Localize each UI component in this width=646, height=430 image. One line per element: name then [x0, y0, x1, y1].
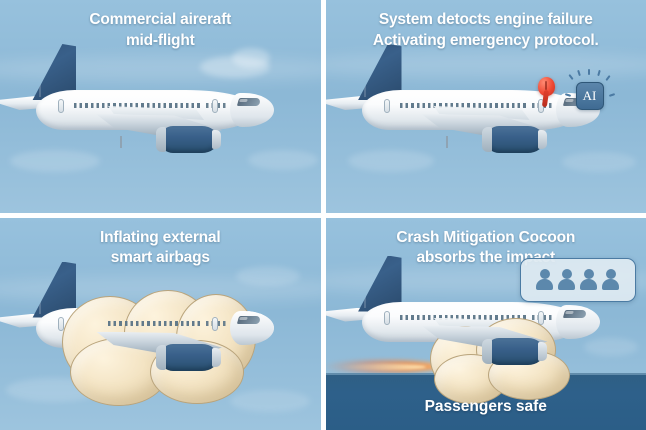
engine-nacelle: [486, 338, 544, 365]
passenger-head: [606, 269, 616, 279]
four-panel-comic: Commercial aireraft mid-flight System de…: [0, 0, 646, 430]
landing-gear-strut: [446, 136, 448, 148]
panel-2-engine-failure-detected: System detocts engine failure Activating…: [326, 0, 646, 213]
panel-2-caption: System detocts engine failure Activating…: [326, 10, 646, 52]
cloud-icon: [230, 390, 310, 412]
panel-3-caption: Inflating external smart airbags: [0, 228, 321, 270]
radiating-line: [588, 69, 590, 75]
cloud-icon: [6, 378, 102, 402]
cabin-door: [212, 317, 218, 331]
alert-slot: [545, 81, 548, 90]
alert-beacon-icon: [538, 77, 556, 109]
passenger-head: [562, 269, 572, 279]
panel-1-caption: Commercial aireraft mid-flight: [0, 10, 321, 52]
passenger-icon: [602, 269, 619, 290]
cabin-door: [58, 99, 64, 113]
airplane-front-overlay: [8, 280, 288, 380]
panel-1-commercial-aircraft: Commercial aireraft mid-flight: [0, 0, 321, 213]
passenger-body: [536, 279, 553, 290]
caption-line-2: mid-flight: [10, 31, 311, 52]
passenger-head: [584, 269, 594, 279]
caption-line-1: Commercial aireraft: [89, 11, 231, 28]
caption-line-2: smart airbags: [10, 248, 311, 269]
passengers-status-panel: [520, 258, 636, 302]
caption-line-1: System detocts engine failure: [379, 11, 593, 28]
passenger-icon: [536, 269, 553, 290]
caption-line-2: Activating emergency protocol.: [336, 31, 637, 52]
caption-line-1: Inflating external: [100, 229, 220, 246]
landing-gear-strut: [120, 136, 122, 148]
passenger-icon: [558, 269, 575, 290]
ai-badge: AI: [576, 82, 604, 110]
passenger-body: [558, 279, 575, 290]
passenger-body: [580, 279, 597, 290]
ai-badge-label: AI: [583, 88, 597, 104]
engine-nacelle: [160, 126, 218, 153]
engine-nacelle: [486, 126, 544, 153]
cockpit-window: [237, 316, 261, 324]
passenger-body: [602, 279, 619, 290]
passenger-icon: [580, 269, 597, 290]
cabin-door: [212, 99, 218, 113]
cockpit-window: [237, 98, 261, 106]
cabin-door: [384, 99, 390, 113]
panel-3-inflating-airbags: Inflating external smart airbags: [0, 218, 321, 430]
caption-line-1: Crash Mitigation Cocoon: [396, 229, 575, 246]
passenger-head: [540, 269, 550, 279]
engine-nacelle: [160, 344, 218, 371]
cabin-window-row: [108, 321, 200, 326]
passengers-safe-label: Passengers safe: [326, 398, 646, 416]
panel-4-cocoon-absorbs-impact: Crash Mitigation Cocoon absorbs the impa…: [326, 218, 646, 430]
airplane: [8, 62, 288, 162]
